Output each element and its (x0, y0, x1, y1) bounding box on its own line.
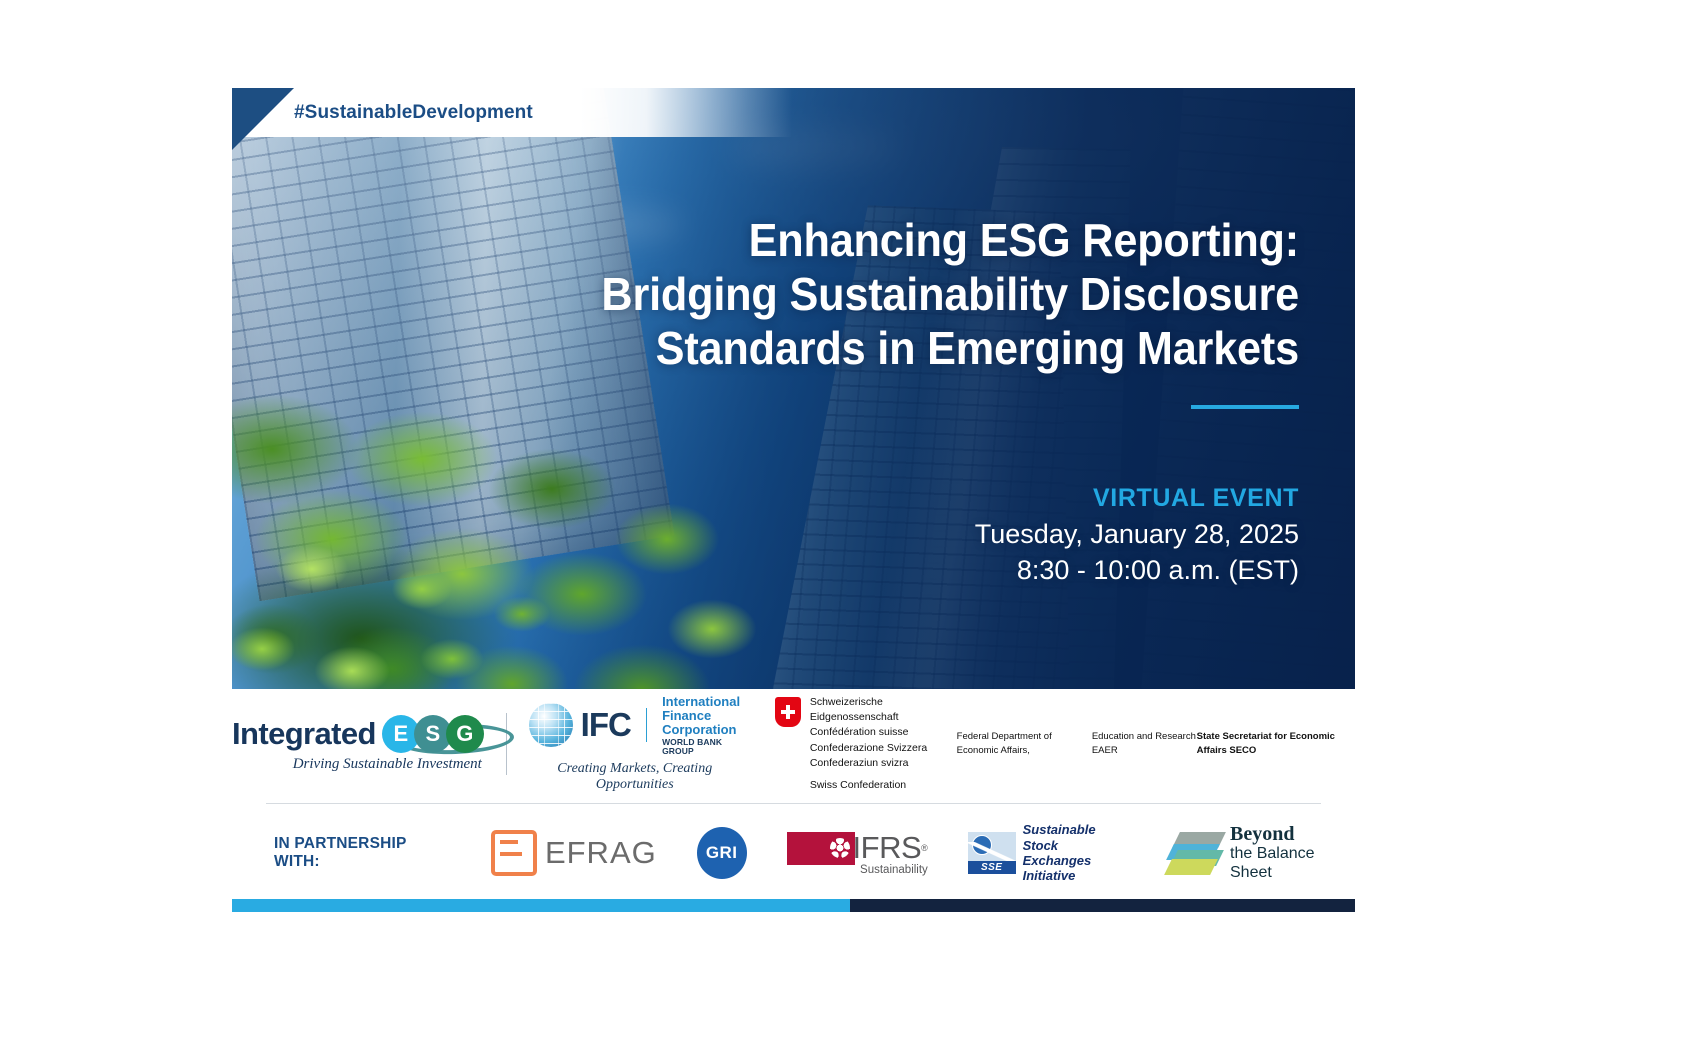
swiss-name-rm: Confederaziun svizra (810, 756, 933, 771)
seco-line-2: Education and Research EAER (1092, 730, 1197, 758)
logo-seco[interactable]: Federal Department of Economic Affairs, … (957, 730, 1355, 758)
sse-line-3: Initiative (1023, 868, 1126, 883)
flower-icon (830, 838, 850, 858)
globe-icon (529, 703, 573, 747)
logo-swiss-confederation[interactable]: Schweizerische Eidgenossenschaft Confédé… (775, 695, 933, 793)
ifrs-badge (787, 832, 855, 865)
partners-bar: IN PARTNERSHIP WITH: EFRAG GRI IFRS ® Su… (232, 813, 1355, 893)
sse-mark-icon: SSE (968, 832, 1016, 874)
page-title: Enhancing ESG Reporting: Bridging Sustai… (499, 214, 1299, 375)
hero-banner: #SustainableDevelopment Enhancing ESG Re… (232, 88, 1355, 689)
efrag-mark-icon (491, 830, 537, 876)
logo-integrated-esg[interactable]: Integrated E S G Driving Sustainable Inv… (232, 709, 484, 779)
swiss-cross-icon (775, 697, 801, 727)
footer-bar (232, 899, 1355, 912)
event-date: Tuesday, January 28, 2025 (599, 516, 1299, 552)
integrated-esg-tagline: Driving Sustainable Investment (232, 756, 484, 773)
footer-accent-navy (850, 899, 1355, 912)
ifc-name-line-1: International (662, 695, 741, 709)
efrag-wordmark: EFRAG (545, 835, 657, 871)
seco-line-3: State Secretariat for Economic Affairs S… (1197, 731, 1335, 756)
hashtag-label: #SustainableDevelopment (294, 88, 533, 137)
stacked-sheets-icon (1166, 831, 1221, 875)
hashtag-ribbon: #SustainableDevelopment (232, 88, 792, 137)
event-type-label: VIRTUAL EVENT (1093, 484, 1299, 513)
logo-ifc[interactable]: IFC International Finance Corporation WO… (529, 695, 741, 792)
swiss-names: Schweizerische Eidgenossenschaft Confédé… (810, 695, 933, 793)
swiss-name-de: Schweizerische Eidgenossenschaft (810, 695, 933, 725)
esg-letter-g: G (446, 715, 484, 753)
sheet-layer (1164, 859, 1218, 875)
logo-beyond-the-balance-sheet[interactable]: Beyond the Balance Sheet (1166, 824, 1355, 882)
title-line-2: Bridging Sustainability Disclosure (547, 268, 1299, 322)
beyond-line-2: the Balance Sheet (1230, 844, 1355, 882)
ifrs-lockup: IFRS ® (787, 830, 928, 866)
ifc-acronym: IFC (581, 706, 631, 744)
event-details: Tuesday, January 28, 2025 8:30 - 10:00 a… (599, 516, 1299, 589)
sse-line-2: Stock Exchanges (1023, 838, 1126, 869)
partner-logos: EFRAG GRI IFRS ® Sustainability (491, 822, 1355, 883)
section-divider (266, 803, 1321, 804)
ifc-group-label: WORLD BANK GROUP (662, 738, 741, 756)
partners-label: IN PARTNERSHIP WITH: (274, 835, 453, 871)
ifc-lockup: IFC International Finance Corporation WO… (529, 695, 741, 755)
corner-triangle-icon (232, 88, 294, 150)
gri-wordmark: GRI (706, 843, 737, 863)
ifrs-sublabel: Sustainability (860, 864, 928, 876)
sse-wordmark: Sustainable Stock Exchanges Initiative (1023, 822, 1126, 883)
sse-line-1: Sustainable (1023, 822, 1126, 837)
seco-line-1: Federal Department of Economic Affairs, (957, 730, 1092, 758)
foliage-foreground (232, 409, 642, 689)
ifc-separator (646, 708, 647, 742)
integrated-esg-word: Integrated (232, 716, 376, 752)
esg-pills: E S G (382, 715, 484, 753)
integrated-esg-lockup: Integrated E S G (232, 715, 484, 753)
logo-efrag[interactable]: EFRAG (491, 830, 657, 876)
title-line-1: Enhancing ESG Reporting: (547, 214, 1299, 268)
swiss-name-fr: Confédération suisse (810, 725, 933, 740)
beyond-wordmark: Beyond the Balance Sheet (1230, 824, 1355, 882)
title-line-3: Standards in Emerging Markets (547, 322, 1299, 376)
ifc-tagline: Creating Markets, Creating Opportunities (529, 761, 741, 793)
logo-sse[interactable]: SSE Sustainable Stock Exchanges Initiati… (968, 822, 1126, 883)
event-poster: #SustainableDevelopment Enhancing ESG Re… (232, 88, 1355, 912)
event-time: 8:30 - 10:00 a.m. (EST) (599, 552, 1299, 588)
logo-ifrs[interactable]: IFRS ® Sustainability (787, 830, 928, 876)
swiss-name-en: Swiss Confederation (810, 778, 933, 793)
ifc-name-line-2: Finance Corporation (662, 709, 741, 737)
beyond-line-1: Beyond (1230, 824, 1355, 844)
footer-accent-cyan (232, 899, 850, 912)
swiss-name-it: Confederazione Svizzera (810, 741, 933, 756)
ifc-fullname: International Finance Corporation WORLD … (662, 695, 741, 755)
ifrs-wordmark: IFRS (853, 830, 922, 866)
accent-rule (1191, 405, 1299, 409)
logo-gri[interactable]: GRI (697, 827, 747, 879)
sponsor-logo-bar: Integrated E S G Driving Sustainable Inv… (232, 689, 1355, 799)
trademark-icon: ® (921, 843, 928, 853)
sse-band-label: SSE (968, 861, 1016, 874)
